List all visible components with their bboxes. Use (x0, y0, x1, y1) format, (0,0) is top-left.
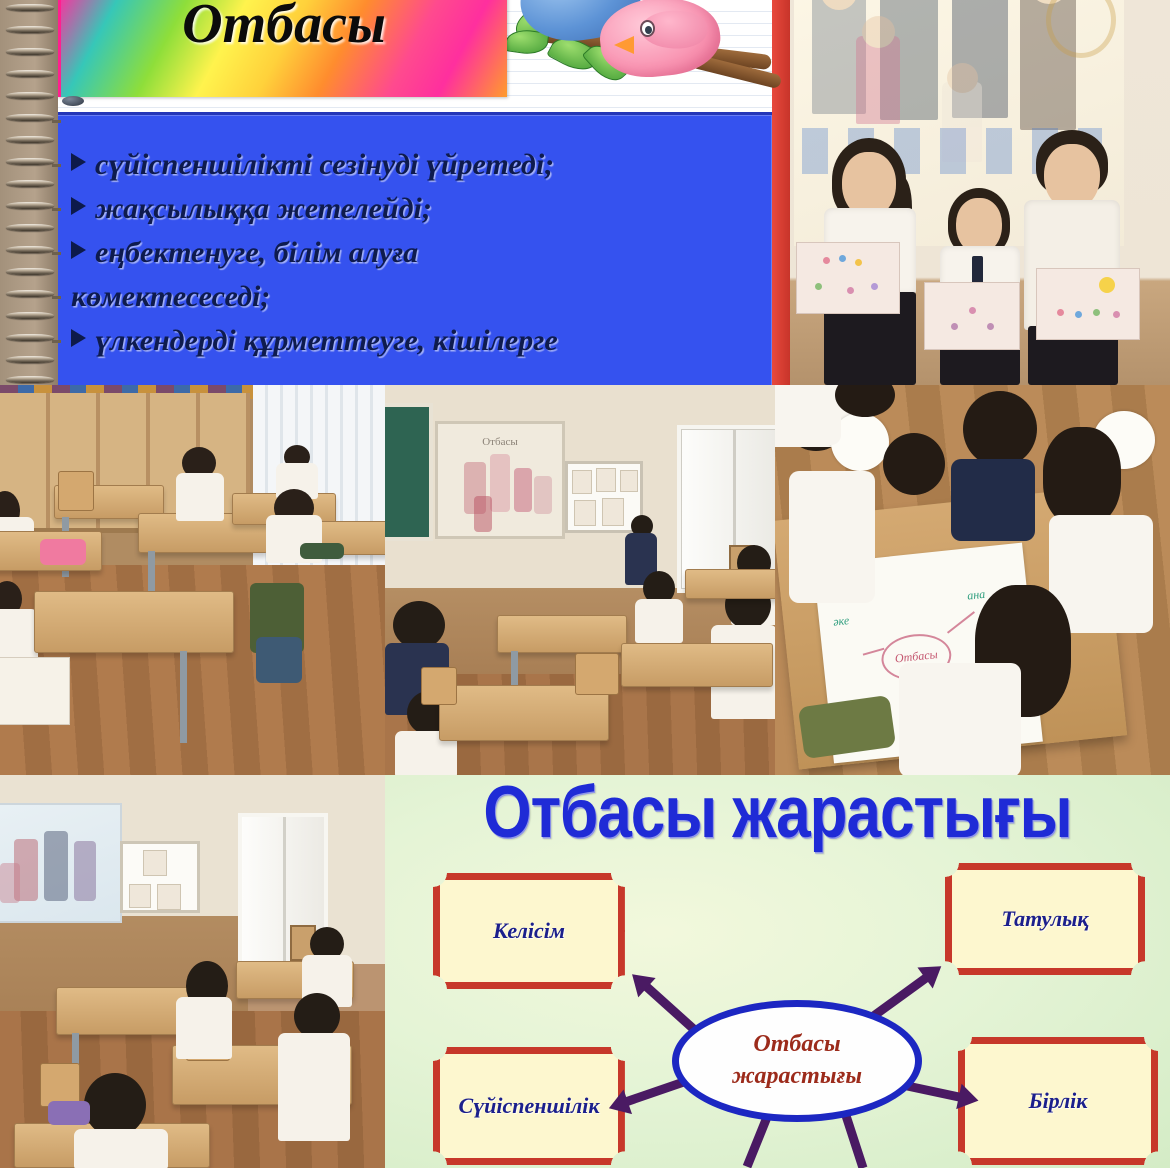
diagram-box-label: Татулық (1001, 906, 1088, 932)
projected-title: Отбасы (438, 436, 562, 448)
bullet-arrow-icon (71, 329, 86, 347)
list-item: үлкендерді құрметтеуге, кішілерге (71, 319, 762, 363)
bird-beak-icon (614, 36, 634, 54)
bullet-arrow-icon (71, 241, 86, 259)
whiteboard (120, 841, 200, 913)
bird-clipart (492, 0, 782, 103)
projector-screen (0, 803, 122, 923)
diagram-box-kelisim[interactable]: Келісім (433, 873, 625, 989)
slide-body-panel: сүйіспеншілікті сезінуді үйретеді; жақсы… (57, 112, 772, 385)
bullet-arrow-icon (71, 197, 86, 215)
pencil-case (300, 543, 344, 559)
pencil-case (48, 1101, 90, 1125)
slide-banner-title: Отбасы (61, 0, 507, 52)
diagram-box-tatulyk[interactable]: Татулық (945, 863, 1145, 975)
diagram-box-birlik[interactable]: Бірлік (958, 1037, 1158, 1165)
slide-otbasy: Отбасы сүйіспеншілікті сезінуді үйретеді… (0, 0, 790, 385)
list-item: жақсылыққа жетелейді; (71, 187, 762, 231)
diagram-center-node[interactable]: Отбасы жарастығы (672, 1000, 922, 1122)
diagram-arrow-down-right (840, 1110, 867, 1168)
diagram-box-suyispenshilik[interactable]: Сүйіспеншілік (433, 1047, 625, 1165)
spiral-binding (0, 0, 58, 385)
photo-kids-drawings (790, 0, 1170, 385)
backpack (40, 539, 86, 565)
bullet-arrow-icon (71, 153, 86, 171)
bird-eye-icon (640, 20, 655, 37)
banner-pin-icon (62, 96, 84, 106)
photo-group-poster: Отбасы ана әке аға (775, 385, 1170, 775)
chalkboard (385, 403, 433, 541)
photo-class-board: Отбасы (385, 385, 775, 775)
worksheet (0, 657, 70, 725)
diagram-arrow-to-birlik (904, 1081, 965, 1102)
diagram-center-line1: Отбасы (753, 1029, 840, 1061)
photo-class-screen (0, 775, 385, 1168)
diagram-title: Отбасы жарастығы (385, 777, 1170, 850)
photo-class-writing (0, 385, 385, 775)
slide-bullet-list: сүйіспеншілікті сезінуді үйретеді; жақсы… (57, 115, 772, 363)
diagram-box-label: Бірлік (1029, 1088, 1088, 1114)
projector-screen: Отбасы (435, 421, 565, 539)
slide-diagram: Отбасы жарастығы Келісім Татулық Сүйіспе… (385, 775, 1170, 1168)
diagram-box-label: Сүйіспеншілік (459, 1093, 600, 1119)
diagram-center-line2: жарастығы (732, 1061, 862, 1093)
list-item: еңбектенуге, білім алуға (71, 231, 762, 275)
backpack (256, 637, 302, 683)
photo-collage: Отбасы сүйіспеншілікті сезінуді үйретеді… (0, 0, 1170, 1168)
list-item-continuation: көмектесеседі; (71, 275, 762, 319)
list-item: сүйіспеншілікті сезінуді үйретеді; (71, 143, 762, 187)
slide-banner: Отбасы (57, 0, 507, 97)
diagram-box-label: Келісім (493, 918, 565, 944)
